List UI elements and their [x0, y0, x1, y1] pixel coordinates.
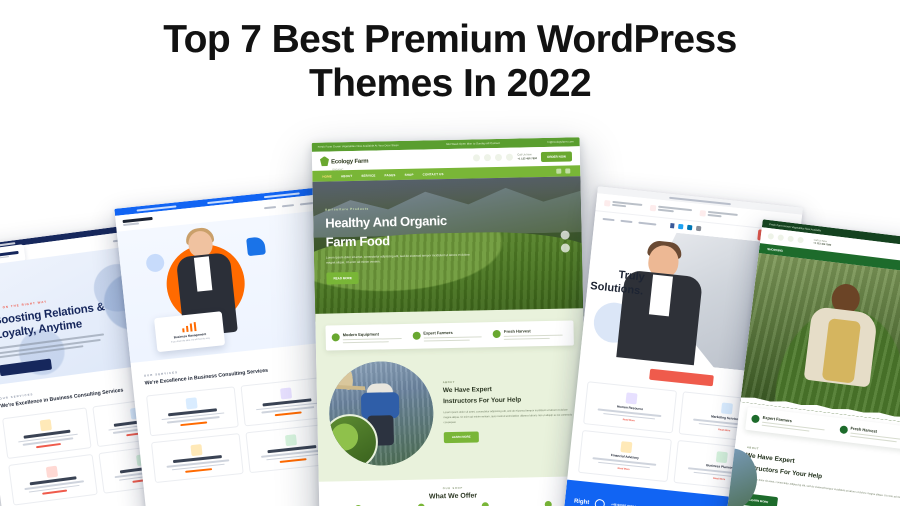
m2-nav-links[interactable] — [264, 202, 316, 209]
m4-service-card[interactable]: Financial Advisory Read More — [578, 430, 672, 482]
search-icon[interactable] — [556, 169, 561, 174]
m3-nav-item-about[interactable]: ABOUT — [341, 174, 353, 178]
social-facebook-icon[interactable] — [670, 223, 675, 228]
check-circle-icon — [493, 330, 501, 338]
social-instagram-icon[interactable] — [696, 226, 701, 231]
check-circle-icon — [412, 332, 420, 340]
m3-order-now-button[interactable]: ORDER NOW — [541, 151, 572, 162]
m3-feature-item: Modern Equipment — [332, 331, 407, 344]
m3-about-eyebrow: ABOUT — [443, 378, 573, 384]
m3-topbar-promo: Fresh Farm Grown Vegetables Now Availabl… — [318, 144, 399, 149]
m4-card-link[interactable]: Read More — [713, 477, 725, 481]
m3-feature-title: Modern Equipment — [343, 331, 407, 337]
m4-nav-links[interactable] — [603, 217, 657, 225]
m3-nav-item-pages[interactable]: PAGES — [384, 173, 395, 177]
social-twitter-icon[interactable] — [484, 154, 491, 161]
check-circle-icon — [751, 414, 760, 423]
m3-about-section: ABOUT We Have Expert Instructors For You… — [316, 345, 587, 481]
m3-offer-heading: What We Offer — [329, 490, 577, 502]
m3-feature-item: Fresh Harvest — [493, 328, 568, 341]
m4-info-item[interactable] — [700, 210, 738, 220]
m3-about-cta-button[interactable]: LEARN MORE — [444, 431, 479, 443]
m5-header-phone-block[interactable]: Call Us Now +1 123 456 7890 — [813, 239, 832, 247]
check-circle-icon — [332, 333, 340, 341]
social-instagram-icon[interactable] — [797, 237, 804, 244]
m4-info-item[interactable] — [604, 200, 642, 210]
m2-service-card[interactable] — [151, 433, 244, 483]
check-circle-icon — [839, 425, 848, 434]
m4-social-icons[interactable] — [670, 223, 701, 231]
m5-hero-farmer — [795, 279, 894, 397]
m3-features-card: Modern Equipment Expert Farmers Fresh Ha… — [325, 320, 573, 350]
leaf-logo-icon — [320, 156, 329, 166]
m4-service-card[interactable]: Human Resource Read More — [583, 381, 677, 433]
m3-feature-item: Expert Farmers — [412, 329, 487, 342]
m5-feature-item: Fresh Harvest — [839, 424, 900, 445]
social-facebook-icon[interactable] — [767, 233, 774, 240]
m5-nav-label[interactable]: SHOPPING — [767, 247, 783, 253]
page-title-line-2: Themes In 2022 — [0, 62, 900, 106]
page-title: Top 7 Best Premium WordPress Themes In 2… — [0, 18, 900, 106]
m3-about-image-main — [328, 360, 434, 466]
m3-hero-cta-button[interactable]: READ MORE — [326, 272, 359, 285]
service-icon — [620, 441, 632, 453]
m5-hero — [740, 253, 900, 426]
m3-hero-body: Lorem ipsum dolor sit amet, consectetur … — [326, 252, 470, 266]
m1-service-card[interactable] — [8, 454, 98, 506]
m4-cta-heading: Right — [574, 499, 590, 506]
m3-feature-title: Expert Farmers — [423, 329, 487, 335]
m2-decor-square — [246, 236, 266, 256]
m4-card-link[interactable]: Read More — [622, 418, 634, 422]
social-facebook-icon[interactable] — [473, 154, 480, 161]
service-icon — [720, 402, 732, 414]
service-icon — [625, 392, 637, 404]
social-linkedin-icon[interactable] — [495, 154, 502, 161]
m2-service-card[interactable] — [146, 386, 239, 436]
m3-nav-item-contact[interactable]: CONTACT US — [423, 172, 444, 176]
cart-icon[interactable] — [565, 168, 570, 173]
mail-icon — [604, 200, 611, 207]
m3-brand-name[interactable]: Ecology Farm — [331, 159, 368, 166]
m1-service-card[interactable] — [2, 407, 92, 459]
map-pin-icon — [650, 204, 657, 211]
page-title-line-1: Top 7 Best Premium WordPress — [0, 18, 900, 62]
m4-info-item[interactable] — [650, 204, 692, 214]
social-twitter-icon[interactable] — [777, 234, 784, 241]
m3-about-body: Lorem ipsum dolor sit amet, consectetur … — [443, 408, 573, 425]
headset-icon — [595, 499, 606, 506]
m3-nav-item-home[interactable]: HOME — [322, 174, 332, 178]
m5-feature-item: Expert Farmers — [751, 413, 833, 434]
m2-logo[interactable] — [123, 217, 153, 226]
m3-hero: Agriculture Products Healthy And Organic… — [312, 176, 583, 322]
bar-chart-icon — [181, 321, 196, 331]
m3-hero-heading-2: Farm Food — [326, 232, 470, 250]
m2-hero-badge-card: Business Management If you have the idea… — [154, 311, 225, 352]
m3-header-phone-block[interactable]: Call Us Now +1 123 456 7890 — [517, 153, 537, 160]
m2-hero: Business Management If you have the idea… — [117, 210, 338, 363]
m3-nav-item-service[interactable]: SERVICE — [361, 173, 375, 177]
m3-feature-title: Fresh Harvest — [504, 328, 568, 334]
m4-card-link[interactable]: Read More — [718, 428, 730, 432]
m1-hero-cta-button[interactable] — [0, 359, 52, 377]
m3-hero-heading-1: Healthy And Organic — [325, 213, 469, 231]
service-icon — [715, 451, 727, 463]
social-linkedin-icon[interactable] — [687, 225, 692, 230]
theme-mockup-ecology-farm[interactable]: Fresh Farm Grown Vegetables Now Availabl… — [312, 137, 589, 506]
m3-about-heading-1: We Have Expert — [443, 384, 573, 395]
m3-about-heading-2: Instructors For Your Help — [443, 396, 573, 407]
m3-topbar-hours: Mid Week Open Mon to Sunday All Contact — [446, 142, 500, 146]
m3-hero-slider-dots[interactable] — [561, 230, 570, 252]
social-twitter-icon[interactable] — [678, 224, 683, 229]
m3-nav-item-shop[interactable]: SHOP — [405, 172, 414, 176]
m3-phone-number[interactable]: +1 123 456 7890 — [517, 157, 537, 161]
m4-card-link[interactable]: Read More — [617, 467, 629, 471]
phone-icon — [700, 210, 707, 217]
m3-topbar-email[interactable]: hi@ecologyfarm.com — [547, 140, 573, 144]
social-linkedin-icon[interactable] — [787, 235, 794, 242]
social-instagram-icon[interactable] — [506, 154, 513, 161]
